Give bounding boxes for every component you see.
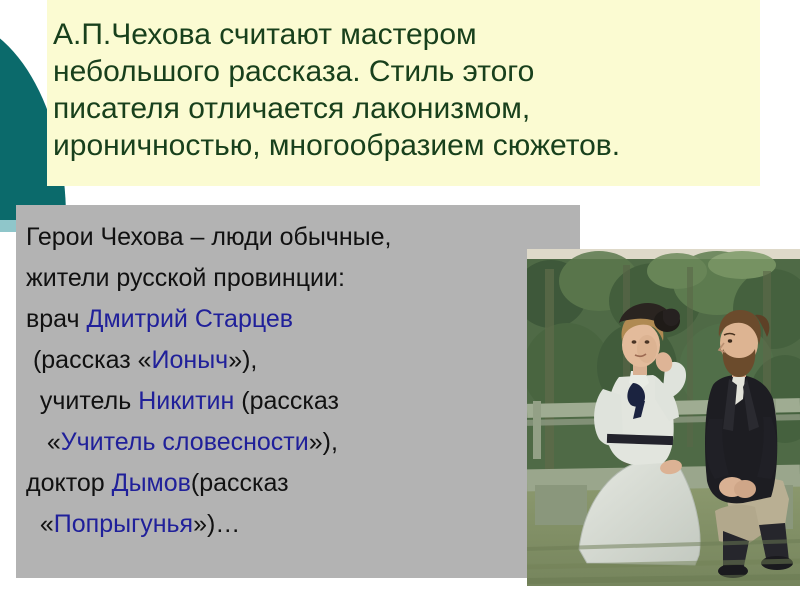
body-text: доктор <box>26 469 112 497</box>
body-text: (рассказ <box>234 387 339 415</box>
body-text: Герои Чехова – люди обычные, <box>26 223 391 251</box>
painting-illustration <box>527 249 800 586</box>
slide-canvas: А.П.Чехова считают мастеромнебольшого ра… <box>0 0 800 600</box>
painting-image <box>527 249 800 586</box>
body-text: « <box>26 428 61 456</box>
header-line: небольшого рассказа. Стиль этого <box>53 53 754 90</box>
body-text: врач <box>26 305 87 333</box>
body-line: «Попрыгунья»)… <box>26 504 572 545</box>
highlighted-name: Дмитрий Старцев <box>87 305 294 333</box>
header-paragraph: А.П.Чехова считают мастеромнебольшого ра… <box>53 16 754 164</box>
highlighted-name: Учитель словесности <box>61 428 309 456</box>
body-text: »)… <box>193 510 240 538</box>
body-line: «Учитель словесности»), <box>26 422 572 463</box>
body-text: »), <box>309 428 338 456</box>
body-line: жители русской провинции: <box>26 258 572 299</box>
highlighted-name: Попрыгунья <box>54 510 193 538</box>
header-line: ироничностью, многообразием сюжетов. <box>53 127 754 164</box>
highlighted-name: Никитин <box>138 387 234 415</box>
body-text-box: Герои Чехова – люди обычные,жители русск… <box>16 205 580 578</box>
body-text: жители русской провинции: <box>26 264 345 292</box>
highlighted-name: Дымов <box>112 469 191 497</box>
body-text: (рассказ « <box>26 346 152 374</box>
body-line: Герои Чехова – люди обычные, <box>26 217 572 258</box>
body-text: »), <box>228 346 257 374</box>
body-line: учитель Никитин (рассказ <box>26 381 572 422</box>
body-text: « <box>26 510 54 538</box>
header-text-box: А.П.Чехова считают мастеромнебольшого ра… <box>47 0 760 186</box>
highlighted-name: Ионыч <box>152 346 229 374</box>
header-line: А.П.Чехова считают мастером <box>53 16 754 53</box>
body-line: врач Дмитрий Старцев <box>26 299 572 340</box>
body-text: учитель <box>26 387 138 415</box>
body-line: (рассказ «Ионыч»), <box>26 340 572 381</box>
body-text: (рассказ <box>191 469 289 497</box>
body-paragraph: Герои Чехова – люди обычные,жители русск… <box>26 217 572 545</box>
header-line: писателя отличается лаконизмом, <box>53 90 754 127</box>
body-line: доктор Дымов(рассказ <box>26 463 572 504</box>
